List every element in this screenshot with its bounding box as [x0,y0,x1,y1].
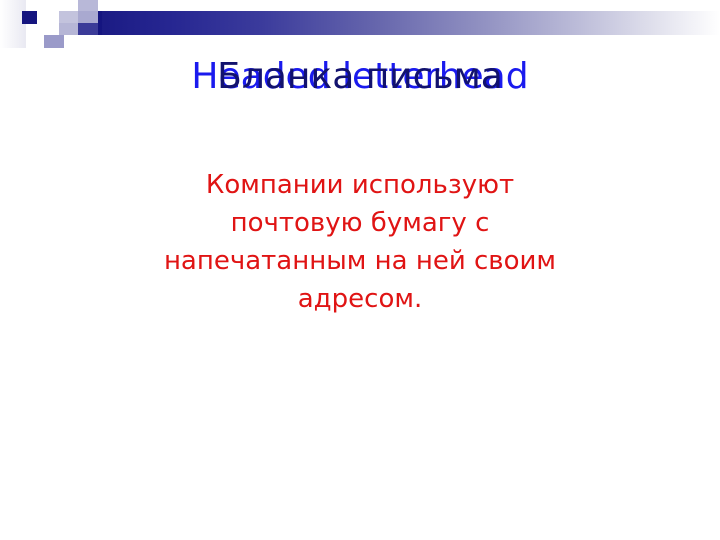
body-line: почтовую бумагу с [108,204,612,242]
header-gradient-bar [100,11,720,35]
slide-title: Headed letterhead Бланка письма [0,54,720,106]
body-line: напечатанным на ней своим [108,242,612,280]
slide-header-decoration [0,0,720,48]
deco-square-7 [44,35,64,48]
deco-square-8 [98,11,102,35]
body-line: Компании используют [108,166,612,204]
deco-square-6 [78,23,98,35]
deco-square-5 [59,23,78,35]
slide-title-russian: Бланка письма [0,54,720,100]
header-left-fade [0,0,26,48]
deco-square-2 [59,11,78,23]
presentation-slide: Headed letterhead Бланка письма Компании… [0,0,720,540]
deco-square-3 [78,0,98,11]
deco-square-1 [22,11,37,24]
slide-body-text: Компании используют почтовую бумагу с на… [108,166,612,318]
body-line: адресом. [108,280,612,318]
deco-square-4 [78,11,98,23]
